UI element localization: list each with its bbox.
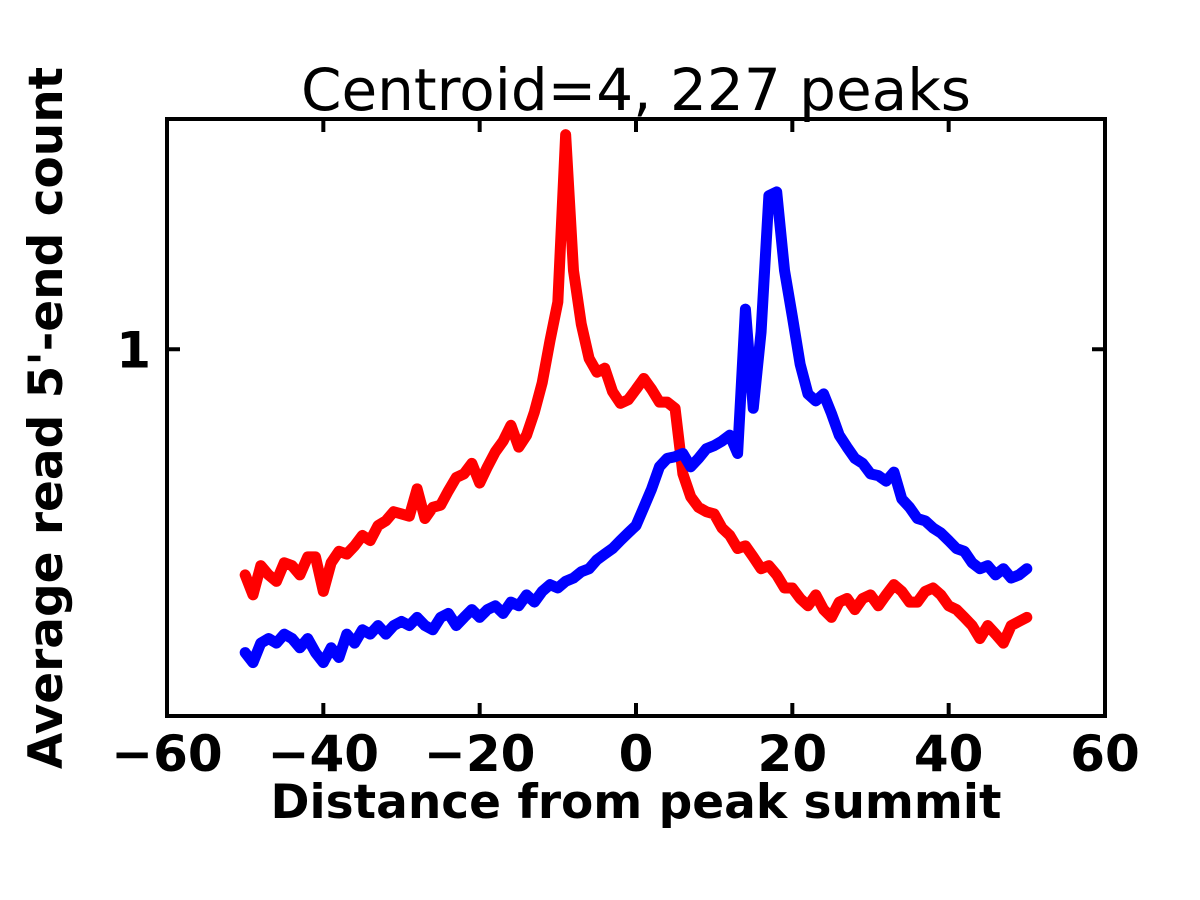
x-tick-label: −60 xyxy=(111,725,222,783)
x-axis-label: Distance from peak summit xyxy=(271,775,1002,830)
y-axis-label: Average read 5'-end count xyxy=(19,67,74,769)
chart-canvas: Centroid=4, 227 peaks −60−40−200204060 1… xyxy=(0,0,1200,900)
x-tick-label: 60 xyxy=(1070,725,1140,783)
y-tick-label: 1 xyxy=(116,321,151,379)
figure-container: Centroid=4, 227 peaks −60−40−200204060 1… xyxy=(0,0,1200,900)
chart-title: Centroid=4, 227 peaks xyxy=(301,56,971,124)
